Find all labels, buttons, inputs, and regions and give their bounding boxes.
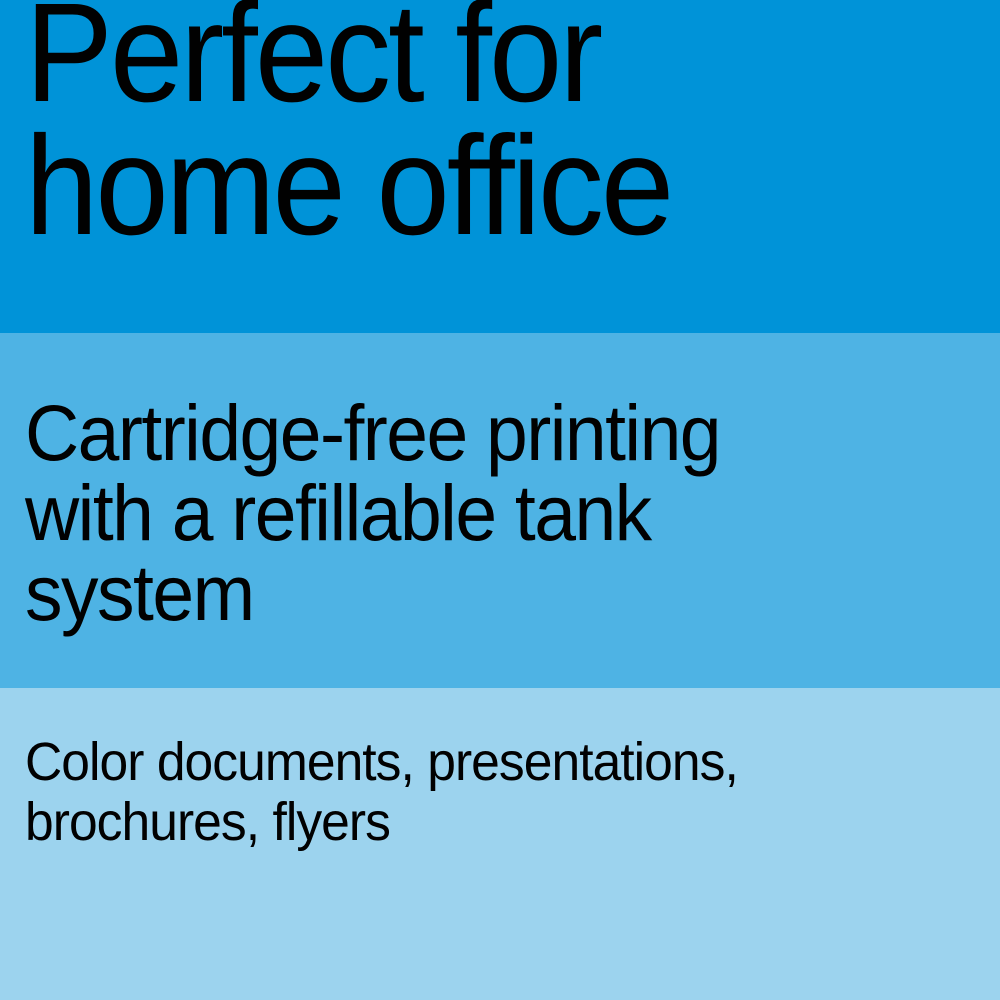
secondary-description-text: Color documents, presentations, brochure… <box>25 732 738 852</box>
primary-description-text: Cartridge-free printing with a refillabl… <box>25 393 720 633</box>
secondary-description-band: Color documents, presentations, brochure… <box>0 688 1000 1000</box>
headline-text: Perfect for home office <box>25 0 671 252</box>
primary-description-band: Cartridge-free printing with a refillabl… <box>0 333 1000 688</box>
headline-band: Perfect for home office <box>0 0 1000 333</box>
printer-feature-callout-panel: Perfect for home office Cartridge-free p… <box>0 0 1000 1000</box>
